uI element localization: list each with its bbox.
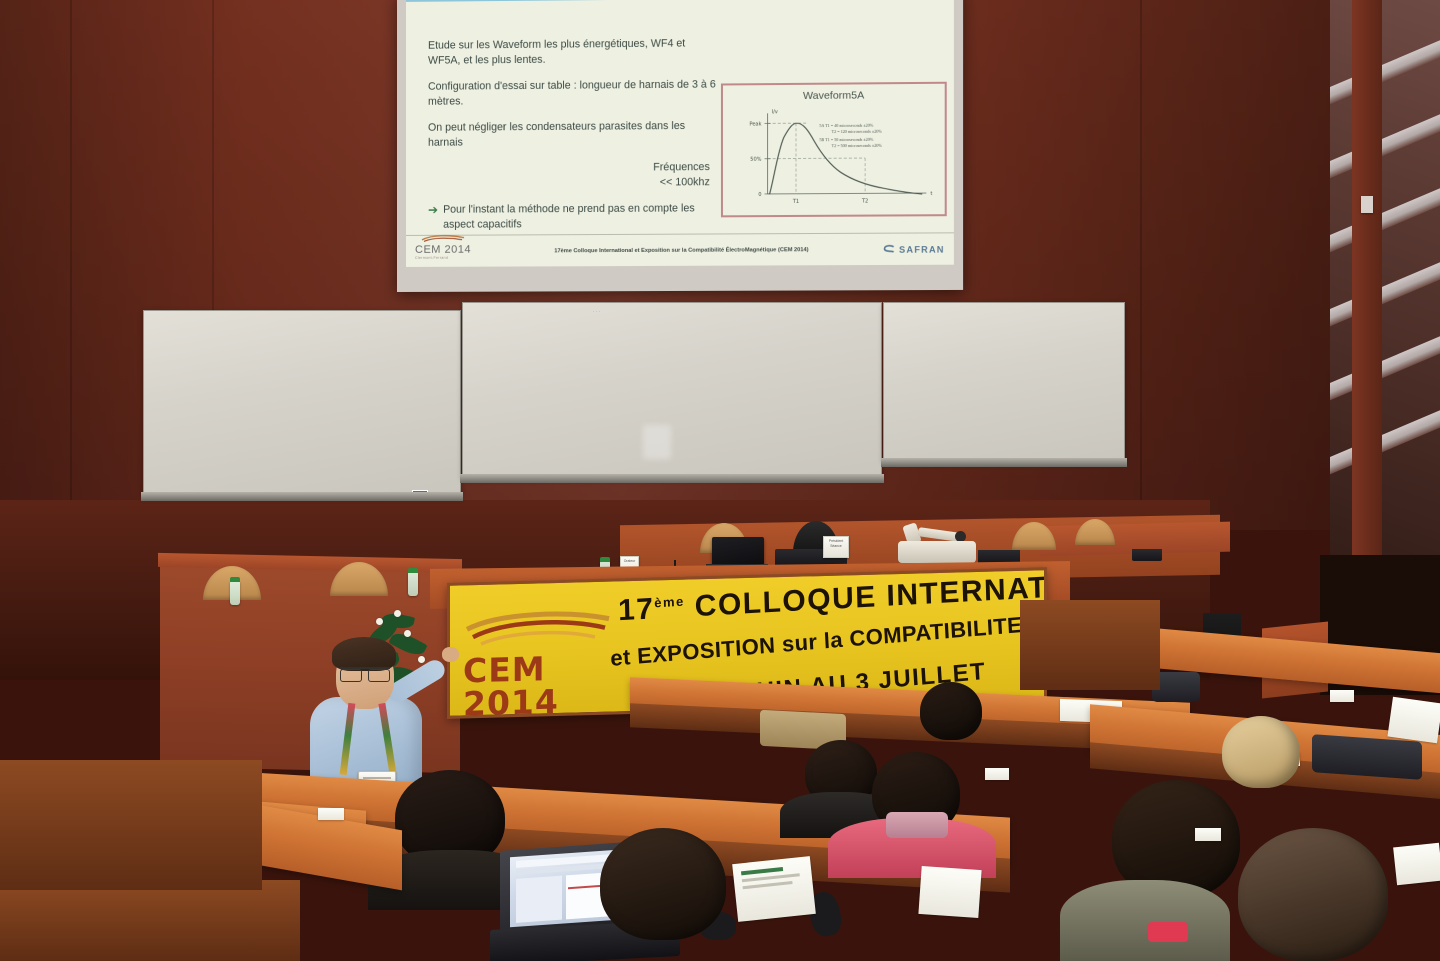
sponsor-name: SAFRAN [899, 244, 945, 254]
slide-footer: CEM 2014 Clermont-Ferrand 17ème Colloque… [406, 232, 954, 267]
slide-conclusion: ➔ Pour l'instant la méthode ne prend pas… [428, 202, 718, 234]
desk-label-3 [1195, 828, 1221, 841]
speaker-hair [332, 637, 396, 671]
frequency-label: Fréquences [653, 161, 710, 173]
speaker-hand-pointer [442, 647, 459, 662]
desk-label-2 [985, 768, 1009, 780]
banner-edition-suffix: ème [654, 594, 685, 611]
notebook-right [1393, 843, 1440, 886]
chart-annotation-4: T2 = 500 microseconds ±20% [819, 142, 943, 148]
presenter-laptop-lid[interactable] [712, 537, 764, 566]
water-bottle-cap-3 [600, 557, 610, 562]
frequency-value: << 100khz [660, 176, 710, 188]
cem-swoosh-icon [421, 234, 465, 241]
audience-head-4 [920, 682, 982, 740]
chart-annotation-2: T2 = 120 microseconds ±20% [819, 128, 943, 134]
aisle-shadow-center [1020, 600, 1160, 690]
slide-body-text: Etude sur les Waveform les plus énergéti… [428, 36, 718, 233]
safran-mark-icon [883, 245, 896, 254]
wall-switch-plate [1361, 196, 1373, 213]
lecture-hall-photo: Problème Etude sur les Waveform les plus… [0, 0, 1440, 961]
whiteboard-tray-center [460, 474, 884, 483]
name-card-1: Président Séance [823, 536, 849, 558]
whiteboard-group: . . . [143, 296, 1125, 504]
wall-panel-seam [1140, 0, 1142, 530]
sponsor-logo: SAFRAN [883, 244, 945, 254]
eyeglasses-icon [340, 667, 390, 678]
audience-head-foreground-3 [1238, 828, 1388, 961]
whiteboard-panel-center: . . . [462, 302, 882, 478]
document-camera-base [898, 541, 976, 563]
stair-wall-edge [1352, 0, 1382, 620]
chart-plot-area: Peak 50% 0 I/v T1 T2 t [723, 100, 949, 217]
slide-footer-text: 17ème Colloque International et Expositi… [489, 246, 874, 254]
banner-logo: CEM 2014 Clermont-Ferrand [463, 607, 623, 719]
banner-edition-number: 17 [618, 592, 655, 627]
name-card-1-text: Président Séance [829, 539, 843, 548]
slide-paragraph-2: Configuration d'essai sur table : longue… [428, 78, 718, 110]
water-bottle-1[interactable] [230, 581, 240, 605]
slide-footer-logo-text: CEM 2014 [415, 243, 481, 255]
svg-text:0: 0 [758, 192, 761, 198]
slide-frequency-note: Fréquences << 100khz [428, 160, 718, 192]
wall-panel-seam [70, 0, 72, 530]
audience-head-blonde [1222, 716, 1300, 788]
cem-swoosh-icon [463, 608, 613, 648]
svg-text:T1: T1 [792, 199, 799, 205]
name-card-2-text: Orateur [624, 559, 636, 563]
whiteboard-panel-left [143, 310, 461, 496]
audience-head-foreground-1 [600, 828, 726, 940]
equipment-box-right [1132, 549, 1162, 561]
water-bottle-cap-2 [408, 568, 418, 573]
desk-label-4 [1330, 690, 1354, 702]
chart-annotations: 5A T1 = 40 microseconds ±20% T2 = 120 mi… [819, 122, 943, 148]
program-booklet [1387, 697, 1440, 744]
slide-paragraph-1: Etude sur les Waveform les plus énergéti… [428, 36, 718, 69]
banner-logo-text: CEM 2014 [463, 650, 623, 719]
whiteboard-smudge [643, 425, 671, 459]
conference-program [732, 856, 816, 922]
svg-text:I/v: I/v [772, 109, 778, 115]
audience-shoulders-foreground [1060, 880, 1230, 961]
desk-label-1 [318, 808, 344, 820]
water-bottle-2[interactable] [408, 572, 418, 596]
slide-paragraph-3: On peut négliger les condensateurs paras… [428, 119, 718, 151]
arrow-right-icon: ➔ [428, 203, 438, 217]
red-item [1148, 922, 1188, 942]
projected-slide: Problème Etude sur les Waveform les plus… [406, 0, 954, 267]
flower-icon [394, 610, 401, 617]
aisle-shadow-left [0, 760, 262, 890]
flower-icon [376, 618, 383, 625]
whiteboard-tray-right [881, 458, 1127, 467]
laptop-closed-right[interactable] [1312, 734, 1422, 780]
svg-text:t: t [930, 191, 932, 197]
stairway-right [1330, 0, 1440, 620]
slide-title-bar [406, 0, 954, 2]
whiteboard-tray-left [141, 492, 463, 501]
slide-footer-logo: CEM 2014 Clermont-Ferrand [415, 243, 481, 259]
foreground-dark-desk [0, 880, 300, 961]
slide-conclusion-text: Pour l'instant la méthode ne prend pas e… [443, 202, 718, 234]
svg-text:Peak: Peak [749, 121, 761, 127]
svg-text:T2: T2 [861, 198, 868, 204]
waveform-chart: Waveform5A Peak [721, 82, 947, 218]
scarf [886, 812, 948, 838]
banner-logo-city: Clermont-Ferrand [463, 717, 623, 719]
whiteboard-faint-mark: . . . [593, 308, 600, 314]
papers-center [918, 866, 981, 918]
projection-screen: Problème Etude sur les Waveform les plus… [397, 0, 963, 292]
svg-text:50%: 50% [750, 157, 762, 163]
slide-footer-logo-sub: Clermont-Ferrand [415, 255, 481, 259]
water-bottle-cap-1 [230, 577, 240, 582]
whiteboard-panel-right [883, 302, 1125, 462]
